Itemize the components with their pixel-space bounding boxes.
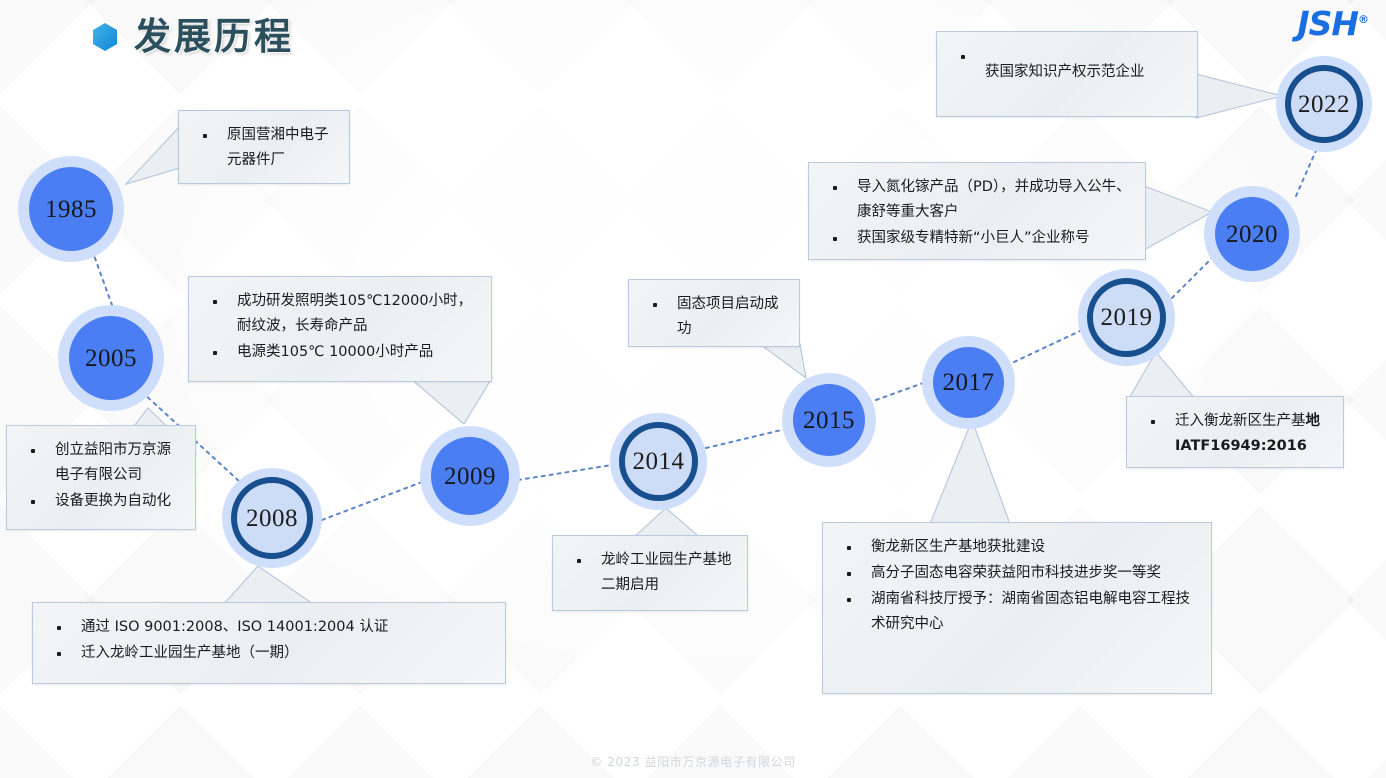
connector-2015-2017 — [876, 382, 926, 400]
registered-mark-icon: ® — [1358, 13, 1368, 26]
node-year-label: 2019 — [1101, 305, 1153, 330]
callout-2020[interactable]: 导入氮化镓产品（PD），并成功导入公牛、康舒等重大客户 获国家级专精特新“小巨人… — [808, 162, 1146, 260]
callout-2009[interactable]: 成功研发照明类105℃12000小时，耐纹波，长寿命产品 电源类105℃ 100… — [188, 276, 492, 382]
timeline-node-2015[interactable]: 2015 — [782, 373, 876, 467]
callout-list: 获国家知识产权示范企业 — [947, 44, 1183, 85]
hexagon-icon — [92, 22, 118, 52]
callout-item: 迁入衡龙新区生产基地IATF16949:2016 — [1137, 409, 1329, 459]
node-year-label: 2008 — [246, 506, 298, 531]
timeline-node-2014[interactable]: 2014 — [610, 413, 707, 510]
callout-2008[interactable]: 通过 ISO 9001:2008、ISO 14001:2004 认证 迁入龙岭工… — [32, 602, 506, 684]
callout-2014[interactable]: 龙岭工业园生产基地二期启用 — [552, 535, 748, 611]
callout-list: 固态项目启动成功 — [639, 292, 785, 342]
callout-1985[interactable]: 原国营湘中电子元器件厂 — [178, 110, 350, 184]
timeline-node-2017[interactable]: 2017 — [922, 336, 1015, 429]
leader-2022 — [1196, 74, 1282, 118]
callout-item: 电源类105℃ 10000小时产品 — [199, 340, 477, 365]
callout-item: 湖南省科技厅授予：湖南省固态铝电解电容工程技术研究中心 — [833, 587, 1197, 637]
leader-1985 — [126, 126, 180, 184]
callout-list: 迁入衡龙新区生产基地IATF16949:2016 — [1137, 409, 1329, 459]
callout-item: 创立益阳市万京源电子有限公司 — [17, 438, 181, 488]
timeline-node-2020[interactable]: 2020 — [1204, 186, 1300, 282]
callout-list: 原国营湘中电子元器件厂 — [189, 123, 335, 173]
callout-2005[interactable]: 创立益阳市万京源电子有限公司 设备更换为自动化 — [6, 425, 196, 530]
leader-2015 — [760, 344, 806, 378]
callout-item: 高分子固态电容荣获益阳市科技进步奖一等奖 — [833, 561, 1197, 586]
connector-2017-2019 — [1014, 330, 1082, 362]
callout-item: 原国营湘中电子元器件厂 — [189, 123, 335, 173]
node-year-label: 2020 — [1226, 222, 1278, 247]
page-title: 发展历程 — [134, 18, 294, 55]
timeline-node-2019[interactable]: 2019 — [1078, 269, 1175, 366]
callout-item: 设备更换为自动化 — [17, 489, 181, 514]
timeline-node-2022[interactable]: 2022 — [1276, 56, 1372, 152]
slide-canvas: 发展历程 JSH® — [0, 0, 1386, 778]
callout-item: 通过 ISO 9001:2008、ISO 14001:2004 认证 — [43, 615, 491, 640]
callout-item: 成功研发照明类105℃12000小时，耐纹波，长寿命产品 — [199, 289, 477, 339]
callout-item: 龙岭工业园生产基地二期启用 — [563, 548, 733, 598]
connector-2019-2020 — [1172, 258, 1212, 298]
callout-2022[interactable]: 获国家知识产权示范企业 — [936, 31, 1198, 117]
callout-list: 创立益阳市万京源电子有限公司 设备更换为自动化 — [17, 438, 181, 514]
connector-2020-2022 — [1296, 146, 1318, 196]
callout-list: 成功研发照明类105℃12000小时，耐纹波，长寿命产品 电源类105℃ 100… — [199, 289, 477, 365]
page-header: 发展历程 — [92, 18, 294, 55]
node-year-label: 2005 — [85, 346, 137, 371]
callout-list: 龙岭工业园生产基地二期启用 — [563, 548, 733, 598]
callout-item: 迁入龙岭工业园生产基地（一期） — [43, 641, 491, 666]
node-year-label: 2015 — [803, 408, 855, 433]
timeline-node-2009[interactable]: 2009 — [420, 426, 520, 526]
leader-2009 — [410, 378, 492, 424]
node-year-label: 2017 — [943, 370, 995, 395]
connector-2009-2014 — [518, 465, 612, 480]
timeline-node-1985[interactable]: 1985 — [18, 156, 124, 262]
leader-2017 — [930, 420, 1010, 524]
node-year-label: 2009 — [444, 464, 496, 489]
footer-copyright: © 2023 益阳市万京源电子有限公司 — [0, 753, 1386, 770]
brand-logo-text: JSH — [1297, 4, 1358, 43]
callout-2019[interactable]: 迁入衡龙新区生产基地IATF16949:2016 — [1126, 396, 1344, 468]
timeline-node-2005[interactable]: 2005 — [58, 305, 164, 411]
leader-2020 — [1144, 186, 1212, 250]
callout-item: 衡龙新区生产基地获批建设 — [833, 535, 1197, 560]
callout-list: 衡龙新区生产基地获批建设 高分子固态电容荣获益阳市科技进步奖一等奖 湖南省科技厅… — [833, 535, 1197, 637]
callout-list: 通过 ISO 9001:2008、ISO 14001:2004 认证 迁入龙岭工… — [43, 615, 491, 666]
connector-2014-2015 — [706, 428, 790, 448]
callout-2015[interactable]: 固态项目启动成功 — [628, 279, 800, 347]
callout-item: 固态项目启动成功 — [639, 292, 785, 342]
node-year-label: 2014 — [633, 449, 685, 474]
callout-item: 获国家知识产权示范企业 — [947, 44, 1183, 85]
connector-1985-2005 — [92, 250, 112, 305]
connector-2008-2009 — [322, 482, 422, 520]
brand-logo: JSH® — [1297, 4, 1368, 43]
callout-list: 导入氮化镓产品（PD），并成功导入公牛、康舒等重大客户 获国家级专精特新“小巨人… — [819, 175, 1131, 251]
leader-2008 — [222, 566, 316, 606]
node-year-label: 2022 — [1298, 92, 1350, 117]
callout-item-plain: 迁入衡龙新区生产基 — [1175, 413, 1306, 429]
callout-2017[interactable]: 衡龙新区生产基地获批建设 高分子固态电容荣获益阳市科技进步奖一等奖 湖南省科技厅… — [822, 522, 1212, 694]
callout-item: 获国家级专精特新“小巨人”企业称号 — [819, 226, 1131, 251]
timeline-node-2008[interactable]: 2008 — [222, 468, 322, 568]
node-year-label: 1985 — [45, 197, 97, 222]
callout-item: 导入氮化镓产品（PD），并成功导入公牛、康舒等重大客户 — [819, 175, 1131, 225]
